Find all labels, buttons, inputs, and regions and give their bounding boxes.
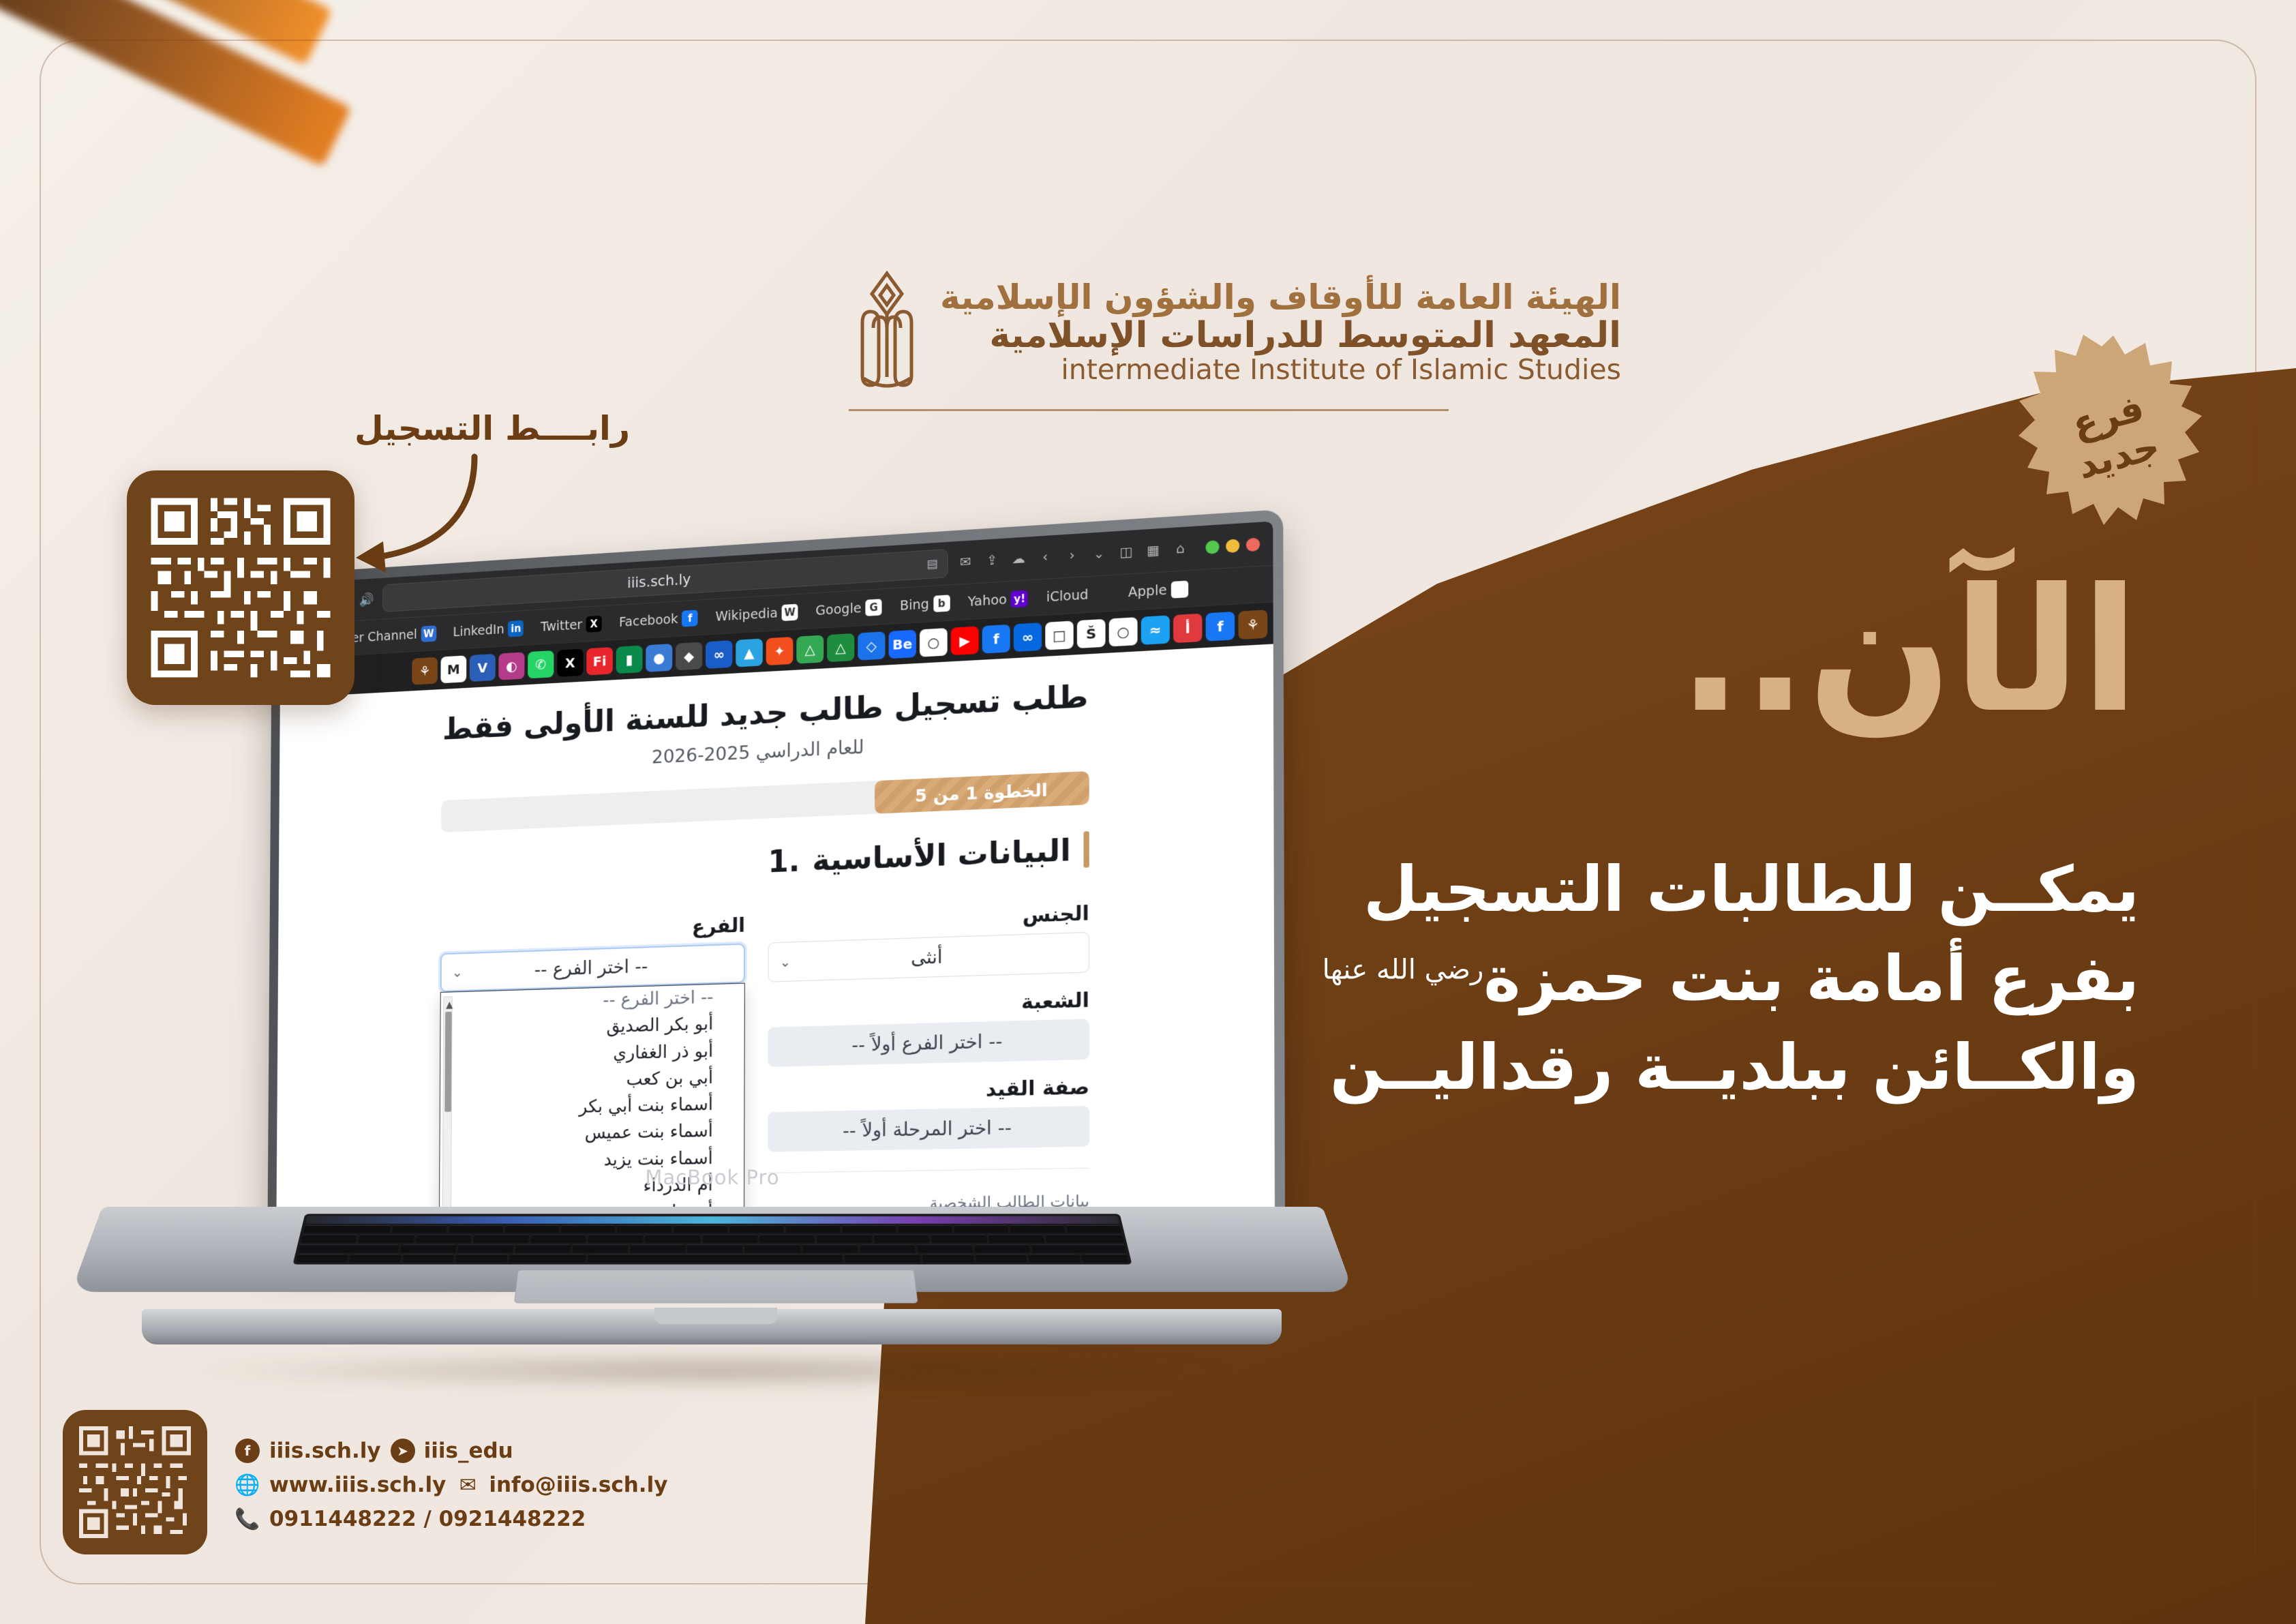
bookmark-icloud[interactable]: iCloud bbox=[1037, 584, 1119, 606]
bookmark-favicon-icon: X bbox=[586, 615, 602, 632]
laptop-keyboard bbox=[292, 1214, 1132, 1264]
grid-icon[interactable]: ▦ bbox=[1145, 542, 1161, 558]
bookmark-favicon-icon: G bbox=[865, 599, 881, 616]
dock-app-6[interactable]: Fi bbox=[586, 647, 613, 675]
envelope-icon: ✉ bbox=[455, 1473, 480, 1497]
dock-app-24[interactable]: ≈ bbox=[1141, 615, 1170, 644]
window-dot-red[interactable] bbox=[1246, 537, 1260, 552]
keyboard-row bbox=[303, 1225, 1122, 1233]
new-branch-badge: فرع جديد bbox=[2014, 334, 2212, 539]
dock-app-0[interactable]: ⚘ bbox=[412, 657, 438, 685]
select-branch-value: -- اختر الفرع -- bbox=[452, 953, 733, 983]
contact-row-phone: 📞 0911448222 / 0921448222 bbox=[235, 1507, 691, 1531]
bookmark-label: Google bbox=[815, 601, 861, 618]
dock-app-25[interactable]: أ bbox=[1173, 613, 1202, 643]
decorative-kufic-top-left bbox=[0, 0, 491, 307]
dock-app-22[interactable]: Š bbox=[1077, 618, 1106, 648]
chevron-down-icon[interactable]: ⌄ bbox=[1091, 545, 1107, 562]
dock-app-11[interactable]: ▲ bbox=[736, 638, 763, 667]
window-controls[interactable] bbox=[1205, 537, 1260, 554]
bookmark-favicon-icon: y! bbox=[1011, 590, 1028, 607]
dropdown-scrollbar[interactable]: ▲ bbox=[442, 996, 453, 1237]
url-text: iiis.sch.ly bbox=[627, 571, 691, 591]
registration-page: طلب تسجيل طالب جديد للسنة الأولى فقط للع… bbox=[276, 644, 1275, 1237]
honorific-text: رضي الله عنها bbox=[1323, 954, 1484, 985]
facebook-icon[interactable]: f bbox=[235, 1439, 260, 1463]
select-division-value: -- اختر الفرع أولاً -- bbox=[779, 1029, 1077, 1057]
website-url[interactable]: www.iiis.sch.ly bbox=[269, 1473, 446, 1497]
telegram-handle[interactable]: iiis_edu bbox=[424, 1439, 513, 1463]
globe-icon: 🌐 bbox=[235, 1473, 260, 1497]
label-division: الشعبة bbox=[768, 988, 1089, 1021]
contact-info: f iiis.sch.ly ➤ iiis_edu 🌐 www.iiis.sch.… bbox=[235, 1439, 691, 1541]
browser-window: ⭳ ⟳ 🗚 🔊 iiis.sch.ly ▤ ✉ ⇪ ☁ ‹ bbox=[276, 522, 1275, 1237]
bookmark-label: Bing bbox=[900, 597, 929, 614]
step-progress-bar: الخطوة 1 من 5 bbox=[441, 771, 1089, 832]
bookmark-twitter[interactable]: TwitterX bbox=[532, 615, 611, 635]
label-branch: الفرع bbox=[440, 914, 745, 947]
bookmark-bing[interactable]: Bingb bbox=[891, 594, 959, 614]
dock-app-10[interactable]: ∞ bbox=[706, 640, 732, 669]
label-gender: الجنس bbox=[768, 901, 1089, 936]
dock-app-12[interactable]: ✦ bbox=[766, 636, 794, 665]
bookmark-favicon-icon: b bbox=[933, 595, 950, 612]
dock-app-27[interactable]: ⚘ bbox=[1238, 610, 1267, 640]
dock-app-17[interactable]: ○ bbox=[920, 628, 948, 657]
dock-app-20[interactable]: ∞ bbox=[1014, 622, 1042, 652]
icloud-icon[interactable]: ☁ bbox=[1011, 551, 1027, 567]
scrollbar-thumb[interactable] bbox=[444, 1012, 451, 1112]
keyboard-row bbox=[301, 1235, 1124, 1243]
share-icon[interactable]: ⇪ bbox=[984, 552, 1000, 569]
chevron-down-icon: ⌄ bbox=[452, 964, 463, 980]
bookmark-facebook[interactable]: Facebookf bbox=[610, 609, 706, 631]
section-heading: البيانات الأساسية .1 bbox=[441, 831, 1089, 892]
institute-logo: الهيئة العامة للأوقاف والشؤون الإسلامية … bbox=[849, 269, 1462, 395]
laptop-top-case bbox=[71, 1207, 1354, 1292]
branch-options-list[interactable]: ▲ -- اختر الفرع --أبو بكر الصديقأبو ذر ا… bbox=[438, 983, 745, 1237]
bookmark-linkedin[interactable]: LinkedInin bbox=[444, 619, 532, 640]
dock-app-14[interactable]: △ bbox=[827, 633, 854, 661]
dock-app-16[interactable]: Be bbox=[889, 629, 916, 659]
mosque-minaret-icon bbox=[849, 269, 925, 395]
bookmark-label: iCloud bbox=[1046, 587, 1089, 605]
dock-app-5[interactable]: X bbox=[557, 648, 584, 676]
dock-app-2[interactable]: V bbox=[470, 653, 496, 681]
dock-app-15[interactable]: ◇ bbox=[858, 631, 885, 660]
dock-app-8[interactable]: ● bbox=[646, 644, 672, 672]
step-progress-label: الخطوة 1 من 5 bbox=[875, 771, 1089, 814]
copy-line-2: بفرع أمامة بنت حمزةرضي الله عنها bbox=[1198, 935, 2139, 1024]
select-enrollment[interactable]: -- اختر المرحلة أولاً -- bbox=[768, 1106, 1089, 1152]
laptop-shadow bbox=[184, 1350, 1248, 1391]
laptop-trackpad bbox=[514, 1270, 918, 1304]
chevron-down-icon: ⌄ bbox=[779, 953, 791, 970]
bookmark-apple[interactable]: Apple bbox=[1119, 580, 1198, 601]
bookmark-yahoo[interactable]: Yahooy! bbox=[959, 589, 1038, 610]
logo-line-authority: الهيئة العامة للأوقاف والشؤون الإسلامية bbox=[940, 280, 1621, 315]
bookmark-favicon-icon bbox=[1171, 580, 1188, 598]
phone-numbers[interactable]: 0911448222 / 0921448222 bbox=[269, 1507, 586, 1531]
dock-app-18[interactable]: ▶ bbox=[951, 626, 979, 655]
dock-app-1[interactable]: M bbox=[440, 655, 466, 683]
facebook-handle[interactable]: iiis.sch.ly bbox=[269, 1439, 381, 1463]
dock-app-9[interactable]: ◆ bbox=[676, 642, 702, 670]
email-address[interactable]: info@iiis.sch.ly bbox=[489, 1473, 667, 1497]
laptop-lid: ⭳ ⟳ 🗚 🔊 iiis.sch.ly ▤ ✉ ⇪ ☁ ‹ bbox=[267, 509, 1285, 1250]
window-dot-yellow[interactable] bbox=[1226, 539, 1239, 553]
dock-app-19[interactable]: f bbox=[982, 624, 1010, 653]
bookmark-favicon-icon bbox=[1093, 585, 1110, 603]
marketing-copy: يمكــن للطالبات التسجيل بفرع أمامة بنت ح… bbox=[1198, 845, 2139, 1113]
bookmark-wikipedia[interactable]: WikipediaW bbox=[707, 603, 807, 625]
dock-app-4[interactable]: ✆ bbox=[528, 650, 554, 678]
dock-app-21[interactable]: □ bbox=[1045, 620, 1073, 650]
mail-icon[interactable]: ✉ bbox=[958, 554, 973, 571]
back-icon[interactable]: ‹ bbox=[1038, 549, 1053, 565]
copy-line-3: والكــائن ببلديــة رقداليــن bbox=[1198, 1023, 2139, 1113]
dock-app-13[interactable]: △ bbox=[796, 635, 824, 663]
headline-now: الآن.. bbox=[1678, 566, 2139, 736]
contact-row-web: 🌐 www.iiis.sch.ly ✉ info@iiis.sch.ly bbox=[235, 1473, 691, 1497]
registration-link-label: رابــــط التسجيل bbox=[354, 409, 630, 448]
phone-icon: 📞 bbox=[235, 1507, 260, 1531]
section-accent-bar bbox=[1083, 831, 1089, 868]
copy-line-2-text: بفرع أمامة بنت حمزة bbox=[1483, 942, 2139, 1015]
section-title-text: البيانات الأساسية bbox=[812, 832, 1070, 878]
select-gender-value: أنثى bbox=[779, 942, 1077, 972]
bookmark-label: Wikipedia bbox=[715, 605, 777, 624]
telegram-icon[interactable]: ➤ bbox=[391, 1439, 415, 1463]
laptop-model-label: MacBook Pro bbox=[102, 1166, 1323, 1189]
keyboard-row bbox=[299, 1244, 1126, 1252]
bookmark-label: Apple bbox=[1128, 582, 1167, 600]
bookmark-favicon-icon: f bbox=[682, 610, 698, 627]
dock-app-26[interactable]: f bbox=[1206, 611, 1235, 641]
forward-icon[interactable]: › bbox=[1064, 547, 1080, 564]
sidebar-icon[interactable]: ◫ bbox=[1118, 544, 1134, 560]
curved-arrow-icon bbox=[341, 450, 498, 593]
window-dot-green[interactable] bbox=[1205, 540, 1219, 554]
contact-qr-code[interactable] bbox=[63, 1410, 207, 1554]
bookmark-favicon-icon: in bbox=[508, 620, 524, 637]
reader-icon[interactable]: ▤ bbox=[926, 557, 937, 571]
bookmark-label: Facebook bbox=[619, 612, 678, 630]
select-gender[interactable]: أنثى ⌄ bbox=[768, 932, 1089, 982]
select-division[interactable]: -- اختر الفرع أولاً -- bbox=[768, 1019, 1089, 1067]
bookmark-label: LinkedIn bbox=[453, 622, 504, 640]
bookmark-google[interactable]: GoogleG bbox=[806, 598, 890, 619]
keyboard-touchbar-row bbox=[305, 1216, 1119, 1223]
bookmark-favicon-icon: W bbox=[782, 603, 798, 620]
dock-app-23[interactable]: ○ bbox=[1109, 617, 1138, 646]
logo-divider bbox=[849, 409, 1449, 411]
home-icon[interactable]: ⌂ bbox=[1173, 541, 1188, 557]
logo-line-english: intermediate Institute of Islamic Studie… bbox=[940, 356, 1621, 385]
keyboard-row bbox=[296, 1254, 1128, 1262]
dock-app-3[interactable]: ◐ bbox=[498, 652, 524, 680]
label-enrollment: صفة القيد bbox=[768, 1075, 1089, 1106]
bookmark-label: Yahoo bbox=[968, 592, 1007, 610]
audio-icon[interactable]: 🔊 bbox=[360, 592, 374, 607]
bookmark-favicon-icon: W bbox=[421, 625, 437, 642]
dock-app-7[interactable]: ▮ bbox=[616, 645, 643, 674]
laptop-lid-notch bbox=[654, 1308, 777, 1324]
select-enrollment-value: -- اختر المرحلة أولاً -- bbox=[779, 1115, 1077, 1143]
logo-line-institute: المعهد المتوسط للدراسات الإسلامية bbox=[940, 318, 1621, 354]
bookmark-label: Twitter bbox=[541, 617, 582, 634]
registration-qr-code[interactable] bbox=[127, 470, 354, 705]
section-number: .1 bbox=[768, 843, 800, 879]
poster-canvas: الهيئة العامة للأوقاف والشؤون الإسلامية … bbox=[0, 0, 2296, 1624]
copy-line-1: يمكــن للطالبات التسجيل bbox=[1198, 845, 2139, 935]
scroll-up-arrow-icon[interactable]: ▲ bbox=[446, 999, 453, 1010]
laptop-base: MacBook Pro bbox=[102, 1207, 1323, 1353]
contact-row-social: f iiis.sch.ly ➤ iiis_edu bbox=[235, 1439, 691, 1463]
